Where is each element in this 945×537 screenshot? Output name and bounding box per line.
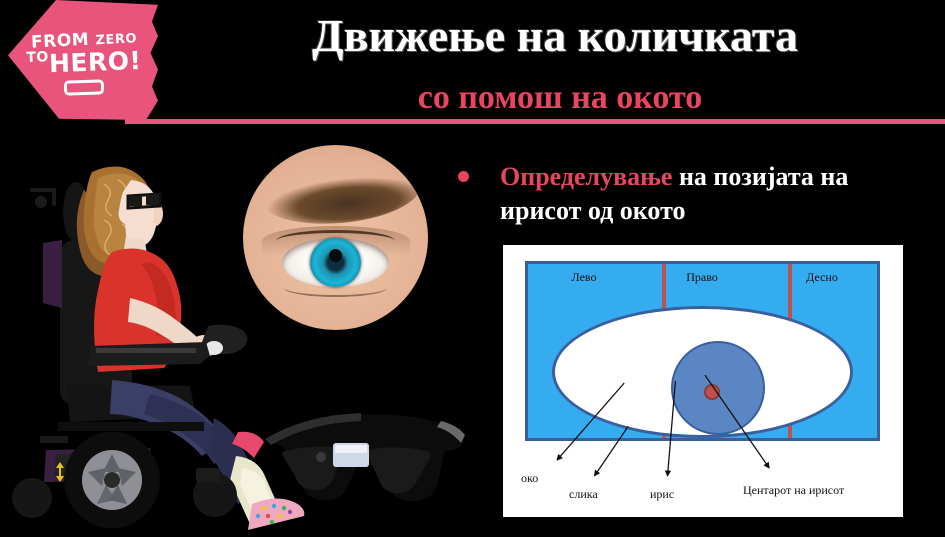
callout-label-iris: ирис xyxy=(650,487,674,502)
diagram-inner: Лево Право Десно око слика ирис xyxy=(515,255,891,513)
zone-label-right: Десно xyxy=(772,270,872,285)
zone-label-left: Лево xyxy=(534,270,634,285)
bullet-list: Определување на позијата на ирисот од ок… xyxy=(458,160,918,229)
headrest-arm-joint xyxy=(52,190,56,206)
headrest-pivot xyxy=(35,196,47,208)
bullet-marker-icon xyxy=(458,171,469,182)
black-smart-glasses-photo xyxy=(255,395,475,515)
diagram-iris-center-dot xyxy=(704,384,720,400)
logo-word-hero: HERO xyxy=(49,46,130,78)
glasses-left-lens xyxy=(129,196,142,206)
zone-label-center: Право xyxy=(652,270,752,285)
logo-exclamation: ! xyxy=(129,46,142,75)
diagram-field: Лево Право Десно xyxy=(525,261,880,441)
page-subtitle: со помош на окото xyxy=(275,80,845,116)
bullet-list-item: Определување на позијата на ирисот од ок… xyxy=(500,160,918,229)
chassis-bar xyxy=(58,422,204,431)
armrest xyxy=(88,342,210,366)
from-zero-to-hero-logo: FROM ZERO TOHERO! xyxy=(8,0,158,120)
glasses-right-lens xyxy=(146,195,159,205)
callout-label-slika: слика xyxy=(569,487,598,502)
superhero-mask-icon xyxy=(64,79,104,95)
page-title: Движење на количката xyxy=(245,12,865,60)
callout-label-oko: око xyxy=(521,471,538,486)
front-caster-wheel xyxy=(12,478,52,518)
bullet-accent-word: Определување xyxy=(500,162,672,191)
side-panel xyxy=(43,240,62,308)
header-divider-rule xyxy=(125,119,945,124)
iris-position-diagram: Лево Право Десно око слика ирис xyxy=(503,245,903,517)
logo-text-group: FROM ZERO TOHERO! xyxy=(8,0,158,120)
glasses-camera-icon xyxy=(316,452,326,462)
display-module-top xyxy=(335,445,367,453)
logo-line-two: TOHERO! xyxy=(22,46,147,79)
chassis-bar-2 xyxy=(40,436,68,443)
caster-mount xyxy=(196,468,220,482)
armrest-highlight xyxy=(96,348,196,353)
logo-word-to: TO xyxy=(26,49,49,66)
callout-label-centar: Центарот на ирисот xyxy=(743,483,844,498)
